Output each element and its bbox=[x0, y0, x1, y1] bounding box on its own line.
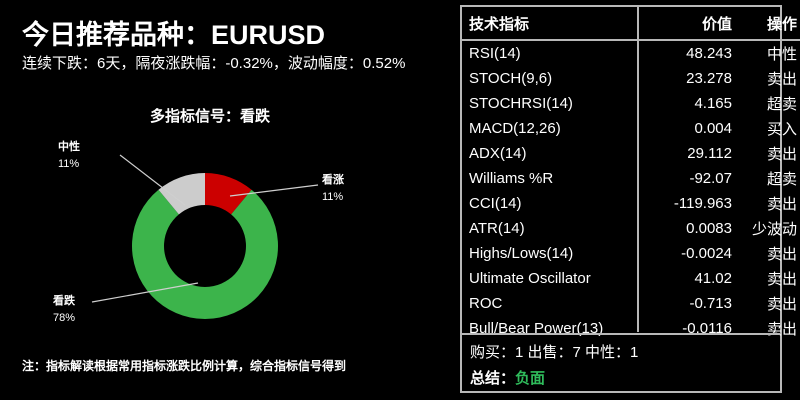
donut-label-bearish-pct: 78% bbox=[53, 310, 75, 327]
indicator-value: 4.165 bbox=[644, 91, 742, 116]
table-row[interactable]: CCI(14)-119.963卖出 bbox=[462, 191, 800, 216]
indicator-action: 卖出 bbox=[742, 266, 800, 291]
indicator-value: -0.713 bbox=[644, 291, 742, 316]
footnote: 注：指标解读根据常用指标涨跌比例计算，综合指标信号得到 bbox=[22, 357, 346, 374]
indicator-action: 买入 bbox=[742, 116, 800, 141]
indicator-action: 卖出 bbox=[742, 291, 800, 316]
table-row[interactable]: MACD(12,26)0.004买入 bbox=[462, 116, 800, 141]
table-row[interactable]: ADX(14)29.112卖出 bbox=[462, 141, 800, 166]
header-value: 价值 bbox=[644, 7, 742, 40]
indicator-name: ADX(14) bbox=[462, 141, 644, 166]
summary-section: 购买：1 出售：7 中性：1 总结：负面 bbox=[462, 335, 780, 392]
indicator-name: MACD(12,26) bbox=[462, 116, 644, 141]
indicator-action: 超卖 bbox=[742, 166, 800, 191]
indicator-name: STOCHRSI(14) bbox=[462, 91, 644, 116]
donut-label-bearish-name: 看跌 bbox=[53, 295, 75, 307]
indicator-action: 卖出 bbox=[742, 141, 800, 166]
table-row[interactable]: ATR(14)0.0083少波动 bbox=[462, 216, 800, 241]
indicator-action: 卖出 bbox=[742, 66, 800, 91]
summary-verdict-label: 总结： bbox=[470, 370, 515, 387]
donut-label-neutral: 中性 11% bbox=[58, 139, 80, 173]
indicator-value: -119.963 bbox=[644, 191, 742, 216]
overview-panel: 今日推荐品种：EURUSD 连续下跌：6天，隔夜涨跌幅：-0.32%，波动幅度：… bbox=[0, 0, 440, 400]
donut-slices bbox=[132, 173, 278, 319]
indicator-value: 48.243 bbox=[644, 40, 742, 66]
table-row[interactable]: STOCH(9,6)23.278卖出 bbox=[462, 66, 800, 91]
technical-indicator-table: 技术指标 价值 操作 RSI(14)48.243中性STOCH(9,6)23.2… bbox=[460, 5, 782, 393]
indicator-name: Ultimate Oscillator bbox=[462, 266, 644, 291]
indicator-value: 29.112 bbox=[644, 141, 742, 166]
donut-label-bullish-name: 看涨 bbox=[322, 174, 344, 186]
table-row[interactable]: RSI(14)48.243中性 bbox=[462, 40, 800, 66]
indicator-name: ATR(14) bbox=[462, 216, 644, 241]
donut-label-bearish: 看跌 78% bbox=[53, 293, 75, 327]
indicator-value: -92.07 bbox=[644, 166, 742, 191]
summary-verdict-value: 负面 bbox=[515, 370, 545, 387]
table-header-row: 技术指标 价值 操作 bbox=[462, 7, 800, 40]
header-action: 操作 bbox=[742, 7, 800, 40]
table-row[interactable]: Williams %R-92.07超卖 bbox=[462, 166, 800, 191]
donut-label-neutral-name: 中性 bbox=[58, 141, 80, 153]
donut-label-neutral-pct: 11% bbox=[58, 156, 80, 173]
indicator-name: RSI(14) bbox=[462, 40, 644, 66]
donut-slice-看跌[interactable] bbox=[132, 190, 278, 319]
indicator-name: Williams %R bbox=[462, 166, 644, 191]
table-row[interactable]: Highs/Lows(14)-0.0024卖出 bbox=[462, 241, 800, 266]
summary-counts: 购买：1 出售：7 中性：1 bbox=[470, 340, 780, 366]
indicator-name: Highs/Lows(14) bbox=[462, 241, 644, 266]
indicator-name: STOCH(9,6) bbox=[462, 66, 644, 91]
indicator-action: 卖出 bbox=[742, 191, 800, 216]
indicator-value: 0.004 bbox=[644, 116, 742, 141]
indicator-action: 少波动 bbox=[742, 216, 800, 241]
table-row[interactable]: ROC-0.713卖出 bbox=[462, 291, 800, 316]
indicator-value: 0.0083 bbox=[644, 216, 742, 241]
indicator-value: -0.0024 bbox=[644, 241, 742, 266]
indicator-action: 中性 bbox=[742, 40, 800, 66]
donut-svg bbox=[0, 0, 440, 400]
indicator-grid: 技术指标 价值 操作 RSI(14)48.243中性STOCH(9,6)23.2… bbox=[462, 7, 800, 341]
summary-verdict: 总结：负面 bbox=[470, 366, 780, 392]
signal-donut-chart bbox=[0, 0, 440, 400]
column-divider bbox=[637, 7, 639, 332]
table-row[interactable]: Ultimate Oscillator41.02卖出 bbox=[462, 266, 800, 291]
donut-label-bullish-pct: 11% bbox=[322, 189, 344, 206]
indicator-value: 41.02 bbox=[644, 266, 742, 291]
indicator-action: 卖出 bbox=[742, 241, 800, 266]
donut-label-bullish: 看涨 11% bbox=[322, 172, 344, 206]
table-row[interactable]: STOCHRSI(14)4.165超卖 bbox=[462, 91, 800, 116]
indicator-action: 超卖 bbox=[742, 91, 800, 116]
header-indicator: 技术指标 bbox=[462, 7, 644, 40]
indicator-value: 23.278 bbox=[644, 66, 742, 91]
indicator-name: ROC bbox=[462, 291, 644, 316]
indicator-name: CCI(14) bbox=[462, 191, 644, 216]
